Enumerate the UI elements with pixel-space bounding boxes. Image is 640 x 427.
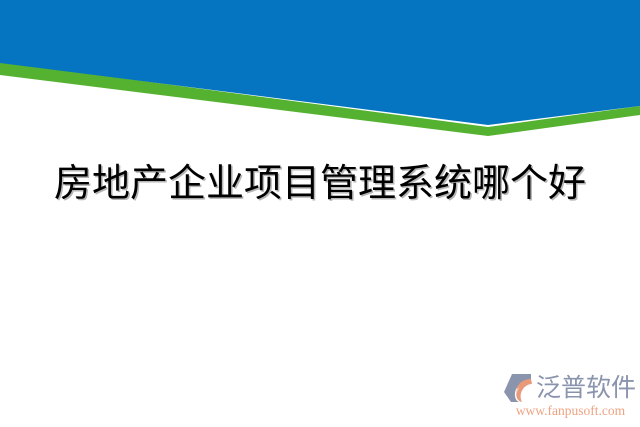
brand-wordmark: 泛普软件 [536,374,636,402]
presentation-slide: 房地产企业项目管理系统哪个好 泛普软件 www.fanpusoft.com [0,0,640,427]
banner-green-accent [0,62,640,136]
brand-logo: 泛普软件 www.fanpusoft.com [503,372,637,422]
page-title: 房地产企业项目管理系统哪个好 [54,160,586,208]
fanpu-hexagon-swoosh-icon [503,373,534,403]
brand-url: www.fanpusoft.com [504,403,637,419]
title-block: 房地产企业项目管理系统哪个好 [0,160,640,208]
brand-logo-row: 泛普软件 [503,372,636,404]
decorative-banner [0,0,640,140]
banner-blue-shape [0,0,640,125]
